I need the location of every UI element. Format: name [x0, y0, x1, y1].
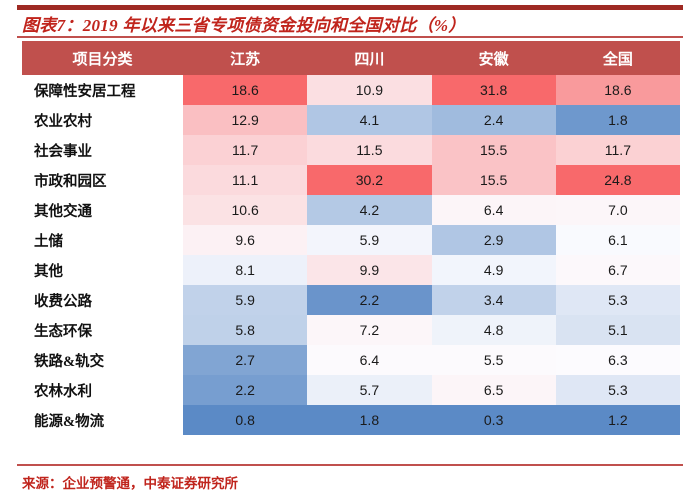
data-cell: 9.6 — [183, 225, 307, 255]
row-label: 保障性安居工程 — [22, 75, 183, 105]
data-cell: 6.4 — [432, 195, 556, 225]
data-cell: 18.6 — [556, 75, 680, 105]
data-cell: 4.1 — [307, 105, 431, 135]
data-cell: 1.8 — [556, 105, 680, 135]
row-label: 能源&物流 — [22, 405, 183, 435]
table-row: 农林水利2.25.76.55.3 — [22, 375, 680, 405]
data-cell: 24.8 — [556, 165, 680, 195]
table-body: 保障性安居工程18.610.931.818.6农业农村12.94.12.41.8… — [22, 75, 680, 435]
column-header-category: 项目分类 — [22, 41, 183, 75]
data-cell: 4.2 — [307, 195, 431, 225]
table-row: 土储9.65.92.96.1 — [22, 225, 680, 255]
chart-figure: 图表7：2019 年以来三省专项债资金投向和全国对比（%） 项目分类 江苏 四川… — [0, 0, 700, 500]
data-cell: 4.8 — [432, 315, 556, 345]
data-table: 项目分类 江苏 四川 安徽 全国 保障性安居工程18.610.931.818.6… — [22, 41, 680, 435]
table-row: 收费公路5.92.23.45.3 — [22, 285, 680, 315]
top-accent-bar — [17, 5, 683, 10]
table-header: 项目分类 江苏 四川 安徽 全国 — [22, 41, 680, 75]
page-title: 图表7：2019 年以来三省专项债资金投向和全国对比（%） — [17, 11, 466, 36]
data-cell: 7.0 — [556, 195, 680, 225]
data-cell: 3.4 — [432, 285, 556, 315]
data-cell: 1.2 — [556, 405, 680, 435]
data-cell: 5.3 — [556, 285, 680, 315]
row-label: 其他交通 — [22, 195, 183, 225]
table-header-row: 项目分类 江苏 四川 安徽 全国 — [22, 41, 680, 75]
bottom-divider — [17, 464, 683, 466]
table-row: 能源&物流0.81.80.31.2 — [22, 405, 680, 435]
row-label: 其他 — [22, 255, 183, 285]
data-cell: 6.3 — [556, 345, 680, 375]
table-row: 其他8.19.94.96.7 — [22, 255, 680, 285]
row-label: 生态环保 — [22, 315, 183, 345]
table-row: 社会事业11.711.515.511.7 — [22, 135, 680, 165]
row-label: 铁路&轨交 — [22, 345, 183, 375]
figure-title-bar: 图表7：2019 年以来三省专项债资金投向和全国对比（%） — [17, 11, 683, 38]
data-cell: 5.8 — [183, 315, 307, 345]
data-cell: 4.9 — [432, 255, 556, 285]
table-row: 保障性安居工程18.610.931.818.6 — [22, 75, 680, 105]
data-cell: 5.5 — [432, 345, 556, 375]
data-cell: 15.5 — [432, 135, 556, 165]
data-cell: 6.4 — [307, 345, 431, 375]
column-header-national: 全国 — [556, 41, 680, 75]
column-header-anhui: 安徽 — [432, 41, 556, 75]
data-cell: 5.1 — [556, 315, 680, 345]
data-cell: 11.7 — [556, 135, 680, 165]
data-cell: 6.7 — [556, 255, 680, 285]
table-row: 市政和园区11.130.215.524.8 — [22, 165, 680, 195]
data-cell: 5.9 — [307, 225, 431, 255]
data-cell: 5.3 — [556, 375, 680, 405]
data-cell: 30.2 — [307, 165, 431, 195]
data-cell: 31.8 — [432, 75, 556, 105]
data-cell: 2.2 — [307, 285, 431, 315]
table-row: 铁路&轨交2.76.45.56.3 — [22, 345, 680, 375]
data-cell: 0.3 — [432, 405, 556, 435]
data-cell: 10.6 — [183, 195, 307, 225]
data-cell: 6.5 — [432, 375, 556, 405]
data-cell: 0.8 — [183, 405, 307, 435]
row-label: 农林水利 — [22, 375, 183, 405]
column-header-sichuan: 四川 — [307, 41, 431, 75]
data-cell: 2.2 — [183, 375, 307, 405]
data-cell: 9.9 — [307, 255, 431, 285]
data-cell: 5.7 — [307, 375, 431, 405]
data-cell: 2.4 — [432, 105, 556, 135]
source-note: 来源：企业预警通，中泰证券研究所 — [22, 472, 238, 492]
row-label: 社会事业 — [22, 135, 183, 165]
column-header-jiangsu: 江苏 — [183, 41, 307, 75]
data-cell: 6.1 — [556, 225, 680, 255]
row-label: 农业农村 — [22, 105, 183, 135]
row-label: 市政和园区 — [22, 165, 183, 195]
data-cell: 10.9 — [307, 75, 431, 105]
data-cell: 11.5 — [307, 135, 431, 165]
data-cell: 18.6 — [183, 75, 307, 105]
data-cell: 8.1 — [183, 255, 307, 285]
table-row: 其他交通10.64.26.47.0 — [22, 195, 680, 225]
data-cell: 12.9 — [183, 105, 307, 135]
data-cell: 2.7 — [183, 345, 307, 375]
row-label: 土储 — [22, 225, 183, 255]
data-cell: 1.8 — [307, 405, 431, 435]
table-row: 农业农村12.94.12.41.8 — [22, 105, 680, 135]
data-table-container: 项目分类 江苏 四川 安徽 全国 保障性安居工程18.610.931.818.6… — [22, 41, 680, 435]
data-cell: 7.2 — [307, 315, 431, 345]
data-cell: 5.9 — [183, 285, 307, 315]
data-cell: 11.1 — [183, 165, 307, 195]
data-cell: 11.7 — [183, 135, 307, 165]
data-cell: 15.5 — [432, 165, 556, 195]
data-cell: 2.9 — [432, 225, 556, 255]
table-row: 生态环保5.87.24.85.1 — [22, 315, 680, 345]
row-label: 收费公路 — [22, 285, 183, 315]
